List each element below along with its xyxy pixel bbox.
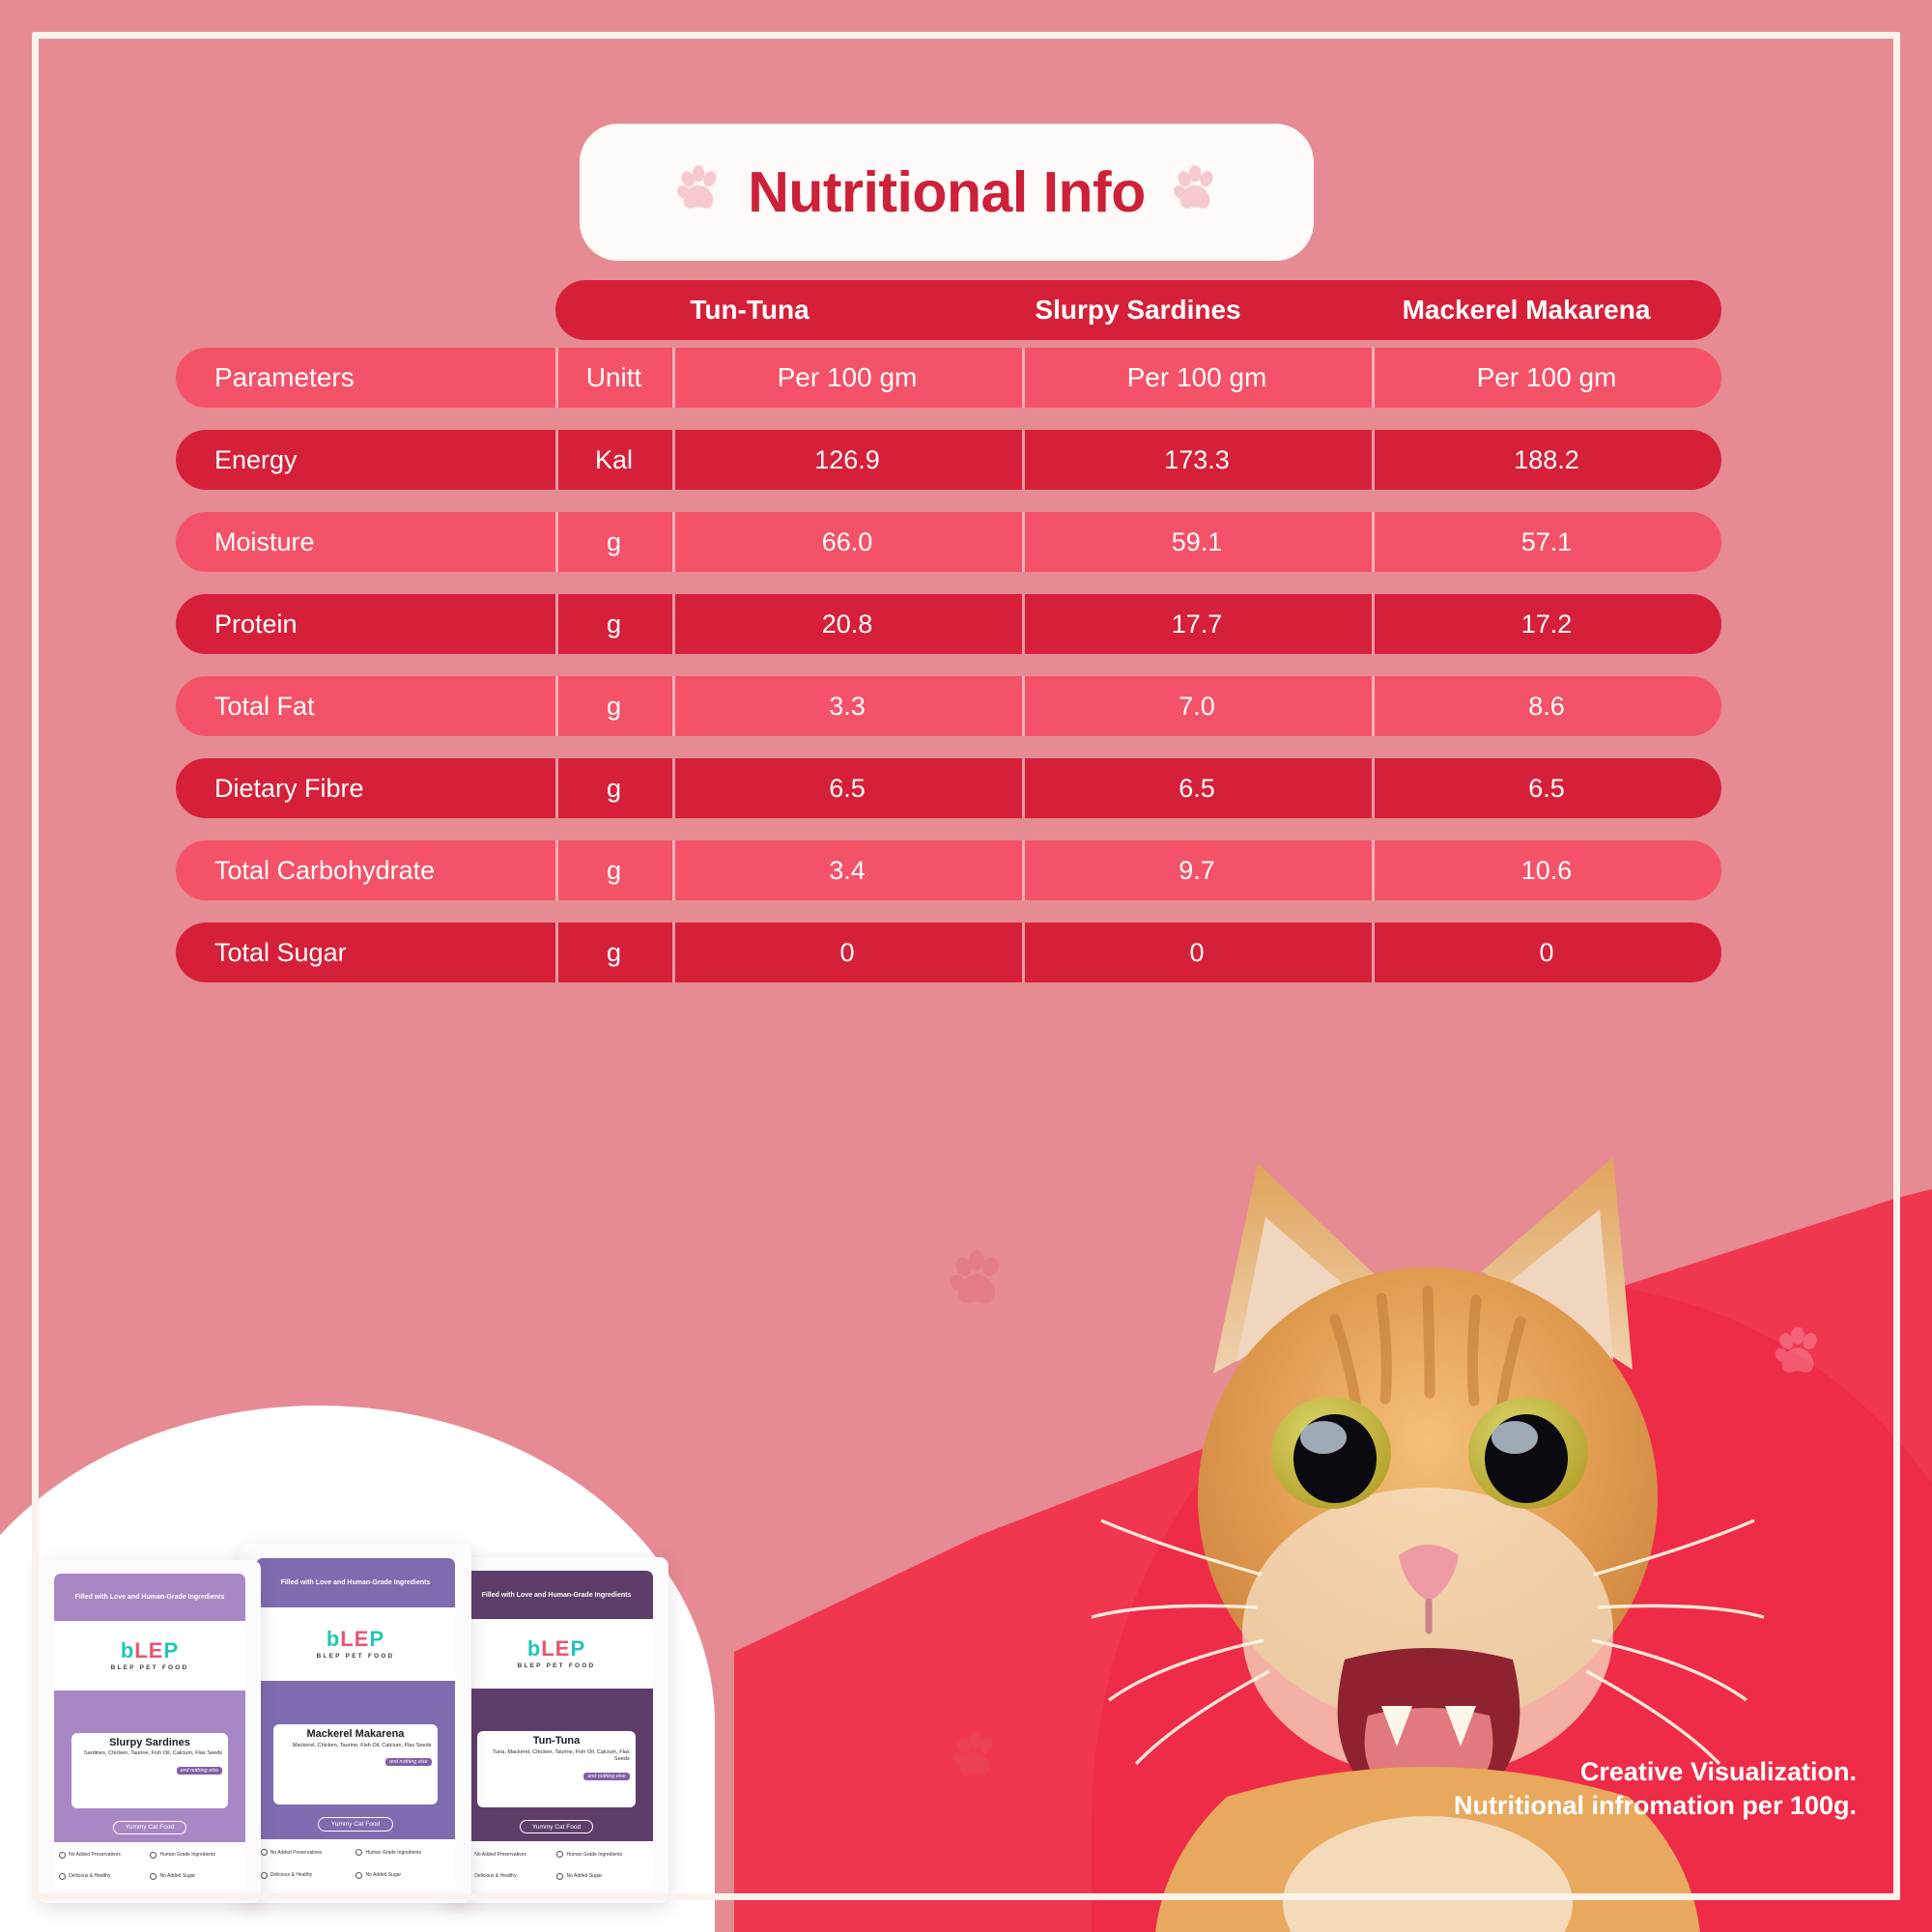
packet-badge: No Added Sugar [556, 1865, 647, 1886]
nutrition-table: Parameters Unitt Per 100 gm Per 100 gm P… [176, 348, 1721, 1005]
cell-unit: g [555, 594, 672, 654]
packet-ingredients: Mackerel, Chicken, Taurine, Fish Oil, Ca… [279, 1743, 431, 1750]
table-row: Total Sugarg000 [176, 923, 1721, 982]
cell-value-mackerel-makarena: 8.6 [1372, 676, 1721, 736]
brand-name: BLEP PET FOOD [317, 1653, 395, 1660]
table-row: Proteing20.817.717.2 [176, 594, 1721, 654]
cell-value-mackerel-makarena: 6.5 [1372, 758, 1721, 818]
packet-yummy-label: Yummy Cat Food [318, 1817, 393, 1832]
cell-value-slurpy-sardines: 17.7 [1022, 594, 1372, 654]
column-header-unit: Unitt [555, 348, 672, 408]
column-header-per-100gm-1: Per 100 gm [672, 348, 1022, 408]
packet-yummy-label: Yummy Cat Food [113, 1821, 185, 1834]
product-header-mackerel-makarena: Mackerel Makarena [1332, 295, 1720, 326]
paw-print-icon [1167, 162, 1223, 223]
disclaimer-caption: Creative Visualization. Nutritional infr… [1454, 1755, 1857, 1824]
product-packet[interactable]: Filled with Love and Human-Grade Ingredi… [240, 1544, 471, 1903]
caption-line-2: Nutritional infromation per 100g. [1454, 1789, 1857, 1824]
packet-ingredients: Tuna, Mackerel, Chicken, Taurine, Fish O… [483, 1749, 630, 1764]
page-title: Nutritional Info [748, 159, 1145, 225]
column-header-parameters: Parameters [176, 348, 555, 408]
cell-value-tun-tuna: 6.5 [672, 758, 1022, 818]
white-bottom-strip [0, 1903, 715, 1932]
paw-print-watermark-icon [1768, 1323, 1828, 1383]
packet-badge: Human Grade Ingredients [556, 1844, 647, 1864]
packet-tagline: Filled with Love and Human-Grade Ingredi… [281, 1579, 431, 1586]
cell-parameter: Total Fat [176, 676, 555, 736]
packet-badge: Delicious & Healthy [261, 1864, 355, 1886]
cell-value-mackerel-makarena: 10.6 [1372, 840, 1721, 900]
packet-badge: No Added Preservatives [59, 1845, 149, 1865]
cell-value-tun-tuna: 66.0 [672, 512, 1022, 572]
brand-logo: bLEP [527, 1638, 585, 1660]
cell-unit: g [555, 512, 672, 572]
packet-yummy-label: Yummy Cat Food [520, 1820, 593, 1833]
packet-badge: No Added Sugar [355, 1864, 450, 1886]
cell-value-mackerel-makarena: 57.1 [1372, 512, 1721, 572]
table-row: Dietary Fibreg6.56.56.5 [176, 758, 1721, 818]
cell-value-mackerel-makarena: 0 [1372, 923, 1721, 982]
cell-unit: g [555, 840, 672, 900]
product-packets-group: Filled with Love and Human-Grade Ingredi… [39, 1497, 696, 1903]
product-packet[interactable]: Filled with Love and Human-Grade Ingredi… [444, 1557, 668, 1903]
packet-nothing-else: and nothing else [583, 1773, 630, 1780]
packet-product-name: Slurpy Sardines [77, 1737, 222, 1748]
brand-logo: bLEP [121, 1640, 179, 1662]
packet-ingredients: Sardines, Chicken, Taurine, Fish Oil, Ca… [77, 1750, 222, 1758]
product-header-slurpy-sardines: Slurpy Sardines [944, 295, 1332, 326]
brand-logo: bLEP [327, 1629, 384, 1650]
packet-badge: No Added Preservatives [465, 1844, 555, 1864]
packet-badge: No Added Sugar [150, 1866, 240, 1887]
packet-badge: Delicious & Healthy [465, 1865, 555, 1886]
cell-value-tun-tuna: 126.9 [672, 430, 1022, 490]
cell-parameter: Moisture [176, 512, 555, 572]
packet-badge: Human Grade Ingredients [355, 1842, 450, 1863]
cell-value-tun-tuna: 20.8 [672, 594, 1022, 654]
cell-value-slurpy-sardines: 7.0 [1022, 676, 1372, 736]
product-packet[interactable]: Filled with Love and Human-Grade Ingredi… [39, 1560, 261, 1903]
cell-value-tun-tuna: 0 [672, 923, 1022, 982]
packet-badge: Delicious & Healthy [59, 1866, 149, 1887]
cell-unit: Kal [555, 430, 672, 490]
cell-value-tun-tuna: 3.3 [672, 676, 1022, 736]
cell-value-mackerel-makarena: 188.2 [1372, 430, 1721, 490]
cell-unit: g [555, 676, 672, 736]
cell-unit: g [555, 923, 672, 982]
column-header-per-100gm-2: Per 100 gm [1022, 348, 1372, 408]
cell-value-slurpy-sardines: 0 [1022, 923, 1372, 982]
cell-parameter: Dietary Fibre [176, 758, 555, 818]
table-product-header-row: Tun-Tuna Slurpy Sardines Mackerel Makare… [555, 280, 1721, 340]
cell-unit: g [555, 758, 672, 818]
packet-tagline: Filled with Love and Human-Grade Ingredi… [482, 1592, 632, 1599]
table-row: Total Fatg3.37.08.6 [176, 676, 1721, 736]
cell-value-slurpy-sardines: 59.1 [1022, 512, 1372, 572]
cell-value-slurpy-sardines: 6.5 [1022, 758, 1372, 818]
table-row: EnergyKal126.9173.3188.2 [176, 430, 1721, 490]
brand-name: BLEP PET FOOD [518, 1662, 596, 1669]
packet-product-name: Mackerel Makarena [279, 1728, 431, 1740]
cell-parameter: Protein [176, 594, 555, 654]
table-row: Moistureg66.059.157.1 [176, 512, 1721, 572]
cell-value-slurpy-sardines: 9.7 [1022, 840, 1372, 900]
column-header-per-100gm-4: Per 100 gm [1372, 348, 1721, 408]
paw-print-icon [670, 162, 726, 223]
packet-nothing-else: and nothing else [385, 1758, 432, 1766]
packet-badge: No Added Preservatives [261, 1842, 355, 1863]
cell-parameter: Total Sugar [176, 923, 555, 982]
packet-nothing-else: and nothing else [177, 1767, 223, 1775]
packet-product-name: Tun-Tuna [483, 1735, 630, 1747]
table-column-header-row: Parameters Unitt Per 100 gm Per 100 gm P… [176, 348, 1721, 408]
cell-value-mackerel-makarena: 17.2 [1372, 594, 1721, 654]
table-row: Total Carbohydrateg3.49.710.6 [176, 840, 1721, 900]
packet-badge: Human Grade Ingredients [150, 1845, 240, 1865]
brand-name: BLEP PET FOOD [111, 1664, 189, 1671]
caption-line-1: Creative Visualization. [1454, 1755, 1857, 1790]
packet-tagline: Filled with Love and Human-Grade Ingredi… [75, 1594, 225, 1601]
page-title-banner: Nutritional Info [580, 124, 1314, 261]
paw-print-watermark-icon [942, 1246, 1011, 1316]
cell-value-slurpy-sardines: 173.3 [1022, 430, 1372, 490]
product-header-tun-tuna: Tun-Tuna [555, 295, 944, 326]
cell-parameter: Energy [176, 430, 555, 490]
paw-print-watermark-icon [947, 1729, 1003, 1785]
cell-value-tun-tuna: 3.4 [672, 840, 1022, 900]
cell-parameter: Total Carbohydrate [176, 840, 555, 900]
